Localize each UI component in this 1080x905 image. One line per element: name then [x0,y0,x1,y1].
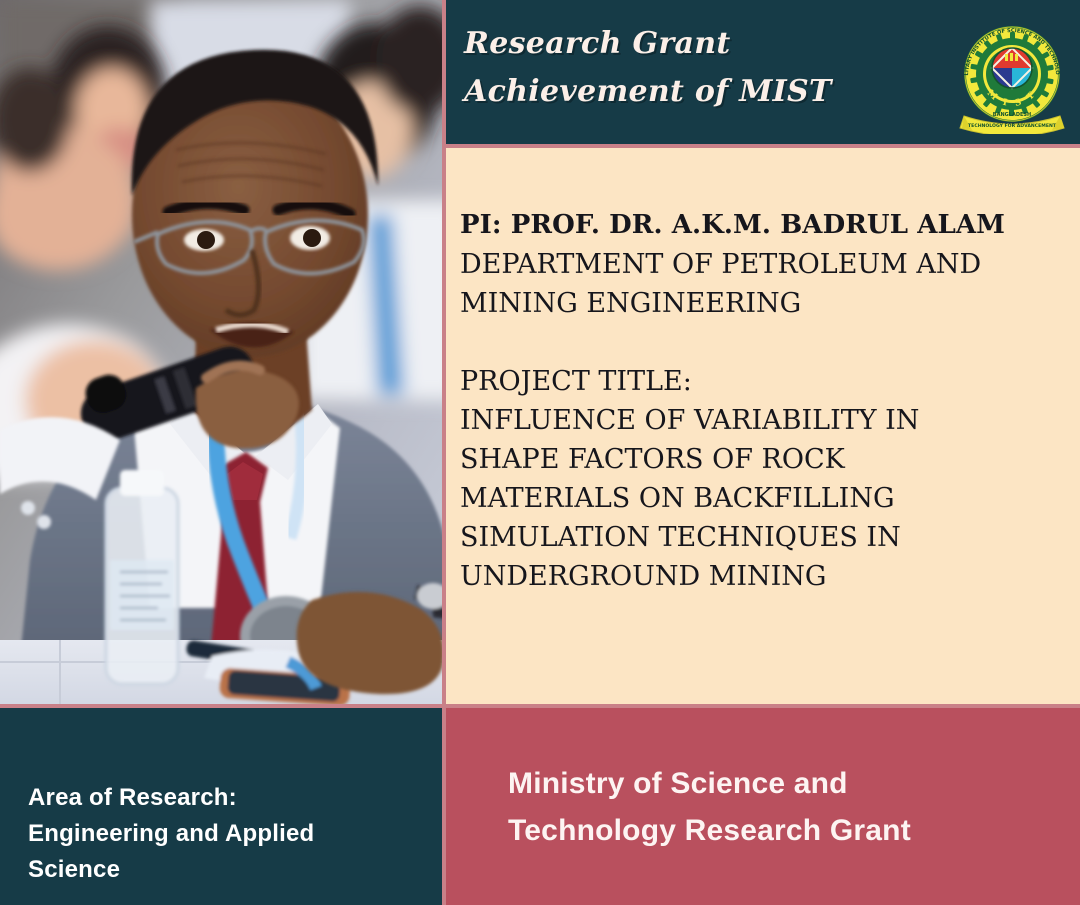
project-title-line-5: UNDERGROUND MINING [460,557,1066,596]
area-line-2: Engineering and Applied [28,816,418,852]
department-line-1: DEPARTMENT OF PETROLEUM AND [460,245,1066,284]
svg-text:TECHNOLOGY FOR ADVANCEMENT: TECHNOLOGY FOR ADVANCEMENT [968,123,1057,129]
project-title-label: PROJECT TITLE: [460,362,1066,401]
project-title-line-3: MATERIALS ON BACKFILLING [460,479,1066,518]
ministry-line-2: Technology Research Grant [508,807,1068,854]
research-grant-poster: Research Grant Achievement of MIST MILIT… [0,0,1080,905]
mist-logo: MILITARY INSTITUTE OF SCIENCE AND TECHNO… [958,16,1066,134]
vertical-divider [442,0,446,905]
area-line-1: Area of Research: [28,780,418,816]
title-line-1: Research Grant [464,20,934,68]
title-line-2: Achievement of MIST [464,68,934,116]
conference-speaker-photo [0,0,442,704]
ministry-grant-panel: Ministry of Science and Technology Resea… [446,708,1080,905]
department-line-2: MINING ENGINEERING [460,284,1066,323]
body-bottom-divider [446,704,1080,708]
header-divider [446,144,1080,148]
project-details-text: PI: PROF. DR. A.K.M. BADRUL ALAM DEPARTM… [460,206,1066,596]
area-line-3: Science [28,852,418,888]
project-title-line-1: INFLUENCE OF VARIABILITY IN [460,401,1066,440]
ministry-line-1: Ministry of Science and [508,760,1068,807]
project-title-line-4: SIMULATION TECHNIQUES IN [460,518,1066,557]
ministry-grant-text: Ministry of Science and Technology Resea… [508,760,1068,854]
area-of-research-panel: Area of Research: Engineering and Applie… [0,708,442,905]
page-title: Research Grant Achievement of MIST [464,20,934,116]
pi-name: PI: PROF. DR. A.K.M. BADRUL ALAM [460,206,1066,245]
project-title-line-2: SHAPE FACTORS OF ROCK [460,440,1066,479]
poster-header: Research Grant Achievement of MIST MILIT… [446,0,1080,144]
area-of-research-text: Area of Research: Engineering and Applie… [28,780,418,888]
text-spacer [460,323,1066,362]
svg-text:BANGLADESH: BANGLADESH [993,112,1031,118]
project-details-panel: PI: PROF. DR. A.K.M. BADRUL ALAM DEPARTM… [446,148,1080,704]
photo-bottom-divider [0,704,442,708]
